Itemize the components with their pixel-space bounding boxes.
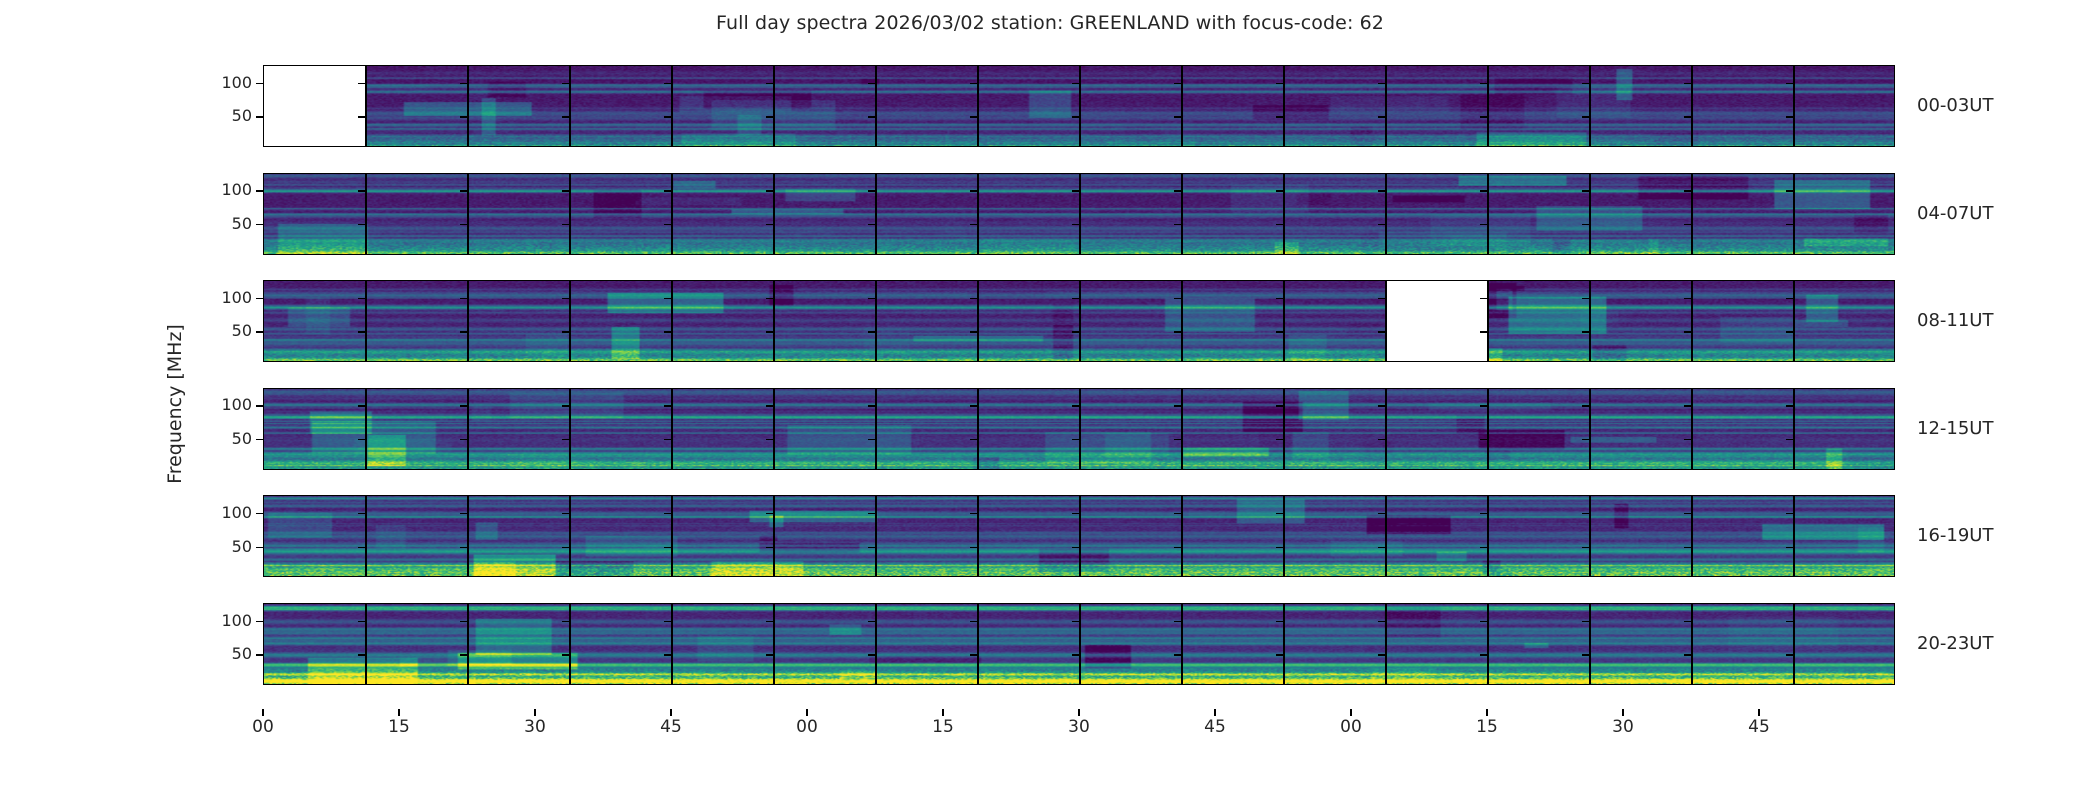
panel-separator <box>467 281 469 362</box>
y-tick-mark-inner <box>970 513 977 514</box>
y-tick-mark-inner <box>1174 83 1181 84</box>
y-tick-label: 100 <box>221 290 252 306</box>
panel-separator <box>1181 604 1183 685</box>
panel-separator <box>1589 389 1591 470</box>
y-tick-label: 100 <box>221 505 252 521</box>
x-tick-label: 30 <box>524 719 546 736</box>
row-label-12-15ut: 12-15UT <box>1917 420 1993 438</box>
panel-separator <box>1079 281 1081 362</box>
y-tick-mark-inner <box>1276 224 1283 225</box>
y-tick-mark-inner <box>1786 405 1793 406</box>
panel-separator <box>671 174 673 255</box>
y-tick-mark-inner <box>664 224 671 225</box>
panel-separator <box>1793 389 1795 470</box>
x-tick-mark <box>1350 709 1351 716</box>
panel-separator <box>569 174 571 255</box>
y-tick-mark-inner <box>1786 224 1793 225</box>
y-tick-mark-inner <box>970 621 977 622</box>
blank-data-panel <box>264 66 366 147</box>
panel-separator <box>1385 174 1387 255</box>
y-tick-mark-inner <box>1378 331 1385 332</box>
panel-separator <box>1487 604 1489 685</box>
y-tick-mark-inner <box>1582 116 1589 117</box>
panel-separator <box>1589 174 1591 255</box>
x-tick-label: 30 <box>1068 719 1090 736</box>
panel-separator <box>467 496 469 577</box>
y-tick-mark-inner <box>868 621 875 622</box>
y-tick-mark-inner <box>970 298 977 299</box>
y-tick-mark-inner <box>1582 190 1589 191</box>
x-tick-mark <box>1078 709 1079 716</box>
panel-separator <box>773 389 775 470</box>
y-tick-mark-inner <box>1174 513 1181 514</box>
panel-separator <box>875 604 877 685</box>
x-tick-label: 15 <box>932 719 954 736</box>
y-tick-mark-inner <box>1582 298 1589 299</box>
y-tick-mark-inner <box>1378 224 1385 225</box>
y-tick-mark-inner <box>1072 116 1079 117</box>
y-tick-mark-inner <box>1582 405 1589 406</box>
panel-separator <box>365 389 367 470</box>
y-tick-mark-inner <box>1786 621 1793 622</box>
y-tick-label: 50 <box>232 539 252 555</box>
panel-separator <box>773 496 775 577</box>
y-tick-mark-inner <box>970 405 977 406</box>
y-tick-mark-inner <box>868 298 875 299</box>
y-tick-mark-inner <box>1786 331 1793 332</box>
y-tick-mark-inner <box>1480 331 1487 332</box>
y-tick-mark-inner <box>1480 621 1487 622</box>
y-tick-mark-inner <box>766 298 773 299</box>
panel-separator <box>671 389 673 470</box>
panel-separator <box>875 496 877 577</box>
y-tick-mark-inner <box>766 405 773 406</box>
y-tick-mark-inner <box>868 190 875 191</box>
y-tick-mark-inner <box>562 298 569 299</box>
y-tick-mark-inner <box>1378 513 1385 514</box>
panel-separator <box>977 281 979 362</box>
y-tick-mark-inner <box>1174 190 1181 191</box>
y-tick-mark-inner <box>868 547 875 548</box>
y-tick-mark-inner <box>868 83 875 84</box>
y-tick-mark-inner <box>1786 298 1793 299</box>
y-tick-mark-inner <box>1174 621 1181 622</box>
y-tick-mark-inner <box>1582 224 1589 225</box>
y-tick-label: 100 <box>221 397 252 413</box>
y-tick-mark <box>256 621 263 622</box>
y-tick-label: 100 <box>221 75 252 91</box>
y-tick-mark-inner <box>664 116 671 117</box>
panel-separator <box>1487 496 1489 577</box>
y-tick-mark-inner <box>1582 331 1589 332</box>
y-tick-mark-inner <box>766 190 773 191</box>
y-tick-mark-inner <box>1786 83 1793 84</box>
panel-separator <box>1283 281 1285 362</box>
y-tick-mark-inner <box>766 224 773 225</box>
panel-separator <box>467 66 469 147</box>
y-tick-mark-inner <box>1684 439 1691 440</box>
y-tick-mark-inner <box>1174 116 1181 117</box>
y-tick-mark-inner <box>766 116 773 117</box>
panel-separator <box>1589 281 1591 362</box>
y-tick-mark-inner <box>1276 116 1283 117</box>
y-tick-mark-inner <box>868 116 875 117</box>
y-tick-mark-inner <box>1378 298 1385 299</box>
y-tick-mark-inner <box>664 547 671 548</box>
x-tick-mark <box>1214 709 1215 716</box>
y-tick-mark-inner <box>1072 513 1079 514</box>
panel-separator <box>1589 604 1591 685</box>
x-tick-label: 00 <box>1340 719 1362 736</box>
row-label-00-03ut: 00-03UT <box>1917 97 1993 115</box>
y-tick-mark-inner <box>868 513 875 514</box>
y-tick-mark-inner <box>1072 331 1079 332</box>
x-tick-label: 00 <box>252 719 274 736</box>
y-tick-mark-inner <box>1480 513 1487 514</box>
y-tick-mark-inner <box>1378 405 1385 406</box>
panel-separator <box>365 66 367 147</box>
y-tick-mark-inner <box>562 116 569 117</box>
y-tick-mark-inner <box>970 116 977 117</box>
panel-separator <box>671 281 673 362</box>
y-tick-mark-inner <box>868 405 875 406</box>
panel-separator <box>1283 496 1285 577</box>
y-tick-mark-inner <box>664 621 671 622</box>
y-tick-mark-inner <box>664 654 671 655</box>
y-tick-mark-inner <box>970 190 977 191</box>
y-tick-mark-inner <box>562 405 569 406</box>
panel-separator <box>977 389 979 470</box>
x-tick-label: 15 <box>388 719 410 736</box>
y-tick-mark <box>256 83 263 84</box>
y-tick-mark-inner <box>970 439 977 440</box>
y-tick-mark-inner <box>1276 547 1283 548</box>
row-label-16-19ut: 16-19UT <box>1917 527 1993 545</box>
y-tick-mark-inner <box>1276 331 1283 332</box>
panel-separator <box>1079 174 1081 255</box>
y-tick-mark-inner <box>766 547 773 548</box>
y-tick-mark-inner <box>358 405 365 406</box>
panel-separator <box>1691 66 1693 147</box>
y-tick-mark <box>256 190 263 191</box>
panel-separator <box>1181 281 1183 362</box>
panel-separator <box>671 604 673 685</box>
y-tick-mark-inner <box>358 331 365 332</box>
y-tick-mark-inner <box>1786 547 1793 548</box>
y-tick-label: 50 <box>232 323 252 339</box>
panel-separator <box>1691 496 1693 577</box>
y-tick-mark-inner <box>1174 298 1181 299</box>
y-tick-mark-inner <box>970 547 977 548</box>
y-tick-mark <box>256 116 263 117</box>
y-tick-mark-inner <box>1480 439 1487 440</box>
y-tick-mark-inner <box>1582 439 1589 440</box>
y-tick-mark-inner <box>562 621 569 622</box>
y-tick-mark-inner <box>1276 621 1283 622</box>
y-tick-mark-inner <box>1276 83 1283 84</box>
spectrogram-row <box>263 173 1895 255</box>
panel-separator <box>569 389 571 470</box>
y-tick-mark-inner <box>358 621 365 622</box>
y-tick-label: 50 <box>232 216 252 232</box>
y-tick-mark-inner <box>1276 190 1283 191</box>
x-tick-mark <box>1758 709 1759 716</box>
y-tick-mark-inner <box>460 547 467 548</box>
y-tick-mark-inner <box>1072 190 1079 191</box>
y-tick-mark-inner <box>970 83 977 84</box>
y-tick-mark-inner <box>1786 116 1793 117</box>
blank-data-panel <box>1386 281 1488 362</box>
y-tick-mark-inner <box>1480 547 1487 548</box>
y-tick-mark-inner <box>460 331 467 332</box>
panel-separator <box>1793 66 1795 147</box>
panel-separator <box>1079 604 1081 685</box>
panel-separator <box>977 604 979 685</box>
spectrogram-row <box>263 280 1895 362</box>
y-tick-mark-inner <box>358 439 365 440</box>
y-tick-mark-inner <box>358 547 365 548</box>
y-tick-mark-inner <box>1378 654 1385 655</box>
panel-separator <box>1691 281 1693 362</box>
y-tick-mark-inner <box>664 405 671 406</box>
y-tick-mark-inner <box>1684 116 1691 117</box>
y-tick-mark-inner <box>766 621 773 622</box>
panel-separator <box>569 496 571 577</box>
panel-separator <box>1793 174 1795 255</box>
panel-separator <box>1385 66 1387 147</box>
y-tick-mark-inner <box>1378 439 1385 440</box>
y-tick-mark <box>256 439 263 440</box>
y-tick-mark-inner <box>970 224 977 225</box>
y-tick-mark-inner <box>562 190 569 191</box>
panel-separator <box>1691 604 1693 685</box>
y-tick-mark-inner <box>664 298 671 299</box>
y-tick-mark-inner <box>1582 547 1589 548</box>
y-tick-mark-inner <box>562 83 569 84</box>
y-tick-mark-inner <box>358 116 365 117</box>
y-tick-mark-inner <box>766 439 773 440</box>
y-tick-mark-inner <box>460 513 467 514</box>
y-tick-mark-inner <box>766 331 773 332</box>
panel-separator <box>1181 66 1183 147</box>
y-tick-label: 50 <box>232 646 252 662</box>
x-tick-mark <box>1486 709 1487 716</box>
panel-separator <box>365 604 367 685</box>
panel-separator <box>1385 281 1387 362</box>
panel-separator <box>1181 496 1183 577</box>
panel-separator <box>569 66 571 147</box>
y-tick-mark-inner <box>1378 116 1385 117</box>
panel-separator <box>1589 66 1591 147</box>
panel-separator <box>671 66 673 147</box>
x-tick-label: 45 <box>1748 719 1770 736</box>
panel-separator <box>1793 281 1795 362</box>
panel-separator <box>1385 389 1387 470</box>
panel-separator <box>1589 496 1591 577</box>
y-tick-mark-inner <box>1786 513 1793 514</box>
y-tick-mark-inner <box>1072 654 1079 655</box>
row-label-20-23ut: 20-23UT <box>1917 635 1993 653</box>
y-tick-mark <box>256 513 263 514</box>
panel-separator <box>1487 66 1489 147</box>
y-tick-mark <box>256 224 263 225</box>
panel-separator <box>977 66 979 147</box>
y-tick-mark-inner <box>1276 513 1283 514</box>
y-tick-mark-inner <box>1480 83 1487 84</box>
y-tick-mark-inner <box>460 83 467 84</box>
y-tick-mark-inner <box>1786 190 1793 191</box>
y-tick-mark-inner <box>358 513 365 514</box>
y-tick-mark-inner <box>460 621 467 622</box>
panel-separator <box>365 281 367 362</box>
y-tick-mark-inner <box>562 513 569 514</box>
y-tick-mark-inner <box>1480 224 1487 225</box>
y-tick-mark-inner <box>562 439 569 440</box>
panel-separator <box>875 66 877 147</box>
y-tick-label: 50 <box>232 108 252 124</box>
y-tick-mark-inner <box>1582 83 1589 84</box>
x-tick-label: 30 <box>1612 719 1634 736</box>
y-tick-mark-inner <box>1072 83 1079 84</box>
y-tick-mark-inner <box>1072 547 1079 548</box>
row-label-08-11ut: 08-11UT <box>1917 312 1993 330</box>
panel-separator <box>1487 389 1489 470</box>
y-tick-mark-inner <box>1174 547 1181 548</box>
panel-separator <box>569 281 571 362</box>
y-tick-mark-inner <box>664 331 671 332</box>
y-tick-mark-inner <box>1072 224 1079 225</box>
y-tick-mark-inner <box>358 298 365 299</box>
y-tick-mark-inner <box>1582 654 1589 655</box>
y-tick-mark-inner <box>1786 654 1793 655</box>
y-tick-mark-inner <box>1378 190 1385 191</box>
y-tick-label: 100 <box>221 613 252 629</box>
y-tick-mark-inner <box>562 547 569 548</box>
panel-separator <box>1283 66 1285 147</box>
panel-separator <box>875 174 877 255</box>
y-tick-mark-inner <box>664 513 671 514</box>
panel-separator <box>773 66 775 147</box>
y-tick-mark-inner <box>358 83 365 84</box>
y-tick-mark-inner <box>1072 405 1079 406</box>
x-tick-mark <box>670 709 671 716</box>
panel-separator <box>875 281 877 362</box>
panel-separator <box>875 389 877 470</box>
panel-separator <box>671 496 673 577</box>
y-tick-mark-inner <box>562 331 569 332</box>
y-tick-mark-inner <box>1378 547 1385 548</box>
panel-separator <box>1487 174 1489 255</box>
spectrogram-row <box>263 495 1895 577</box>
y-tick-mark-inner <box>1684 621 1691 622</box>
panel-separator <box>1181 389 1183 470</box>
y-tick-mark-inner <box>1684 547 1691 548</box>
y-tick-mark-inner <box>1174 439 1181 440</box>
x-tick-mark <box>534 709 535 716</box>
y-tick-mark-inner <box>1276 439 1283 440</box>
y-tick-mark-inner <box>1582 621 1589 622</box>
y-tick-mark-inner <box>562 654 569 655</box>
y-tick-mark <box>256 405 263 406</box>
y-tick-mark-inner <box>664 83 671 84</box>
panel-separator <box>1283 174 1285 255</box>
y-tick-mark-inner <box>562 224 569 225</box>
y-tick-mark <box>256 331 263 332</box>
panel-separator <box>1691 174 1693 255</box>
y-tick-mark-inner <box>664 190 671 191</box>
y-tick-mark-inner <box>1276 298 1283 299</box>
y-tick-mark-inner <box>1276 654 1283 655</box>
y-tick-mark-inner <box>460 298 467 299</box>
y-tick-mark-inner <box>766 513 773 514</box>
y-tick-mark-inner <box>1072 439 1079 440</box>
y-tick-mark-inner <box>1072 621 1079 622</box>
y-tick-mark-inner <box>358 654 365 655</box>
y-tick-mark-inner <box>460 654 467 655</box>
x-tick-mark <box>398 709 399 716</box>
panel-separator <box>1079 389 1081 470</box>
panel-separator <box>365 496 367 577</box>
y-tick-label: 50 <box>232 431 252 447</box>
panel-separator <box>1079 66 1081 147</box>
y-tick-mark-inner <box>460 405 467 406</box>
y-tick-mark-inner <box>1684 331 1691 332</box>
y-tick-mark-inner <box>868 439 875 440</box>
panel-separator <box>467 389 469 470</box>
y-tick-mark-inner <box>1684 513 1691 514</box>
panel-separator <box>1793 496 1795 577</box>
y-tick-mark-inner <box>358 190 365 191</box>
x-tick-label: 45 <box>660 719 682 736</box>
x-tick-label: 45 <box>1204 719 1226 736</box>
y-tick-mark-inner <box>766 83 773 84</box>
y-tick-mark-inner <box>1174 331 1181 332</box>
spectrogram-row <box>263 603 1895 685</box>
y-tick-mark-inner <box>1276 405 1283 406</box>
y-tick-mark-inner <box>1480 405 1487 406</box>
y-axis-label: Frequency [MHz] <box>164 324 186 484</box>
page-title: Full day spectra 2026/03/02 station: GRE… <box>0 12 2100 34</box>
panel-separator <box>977 496 979 577</box>
y-tick-mark-inner <box>1684 654 1691 655</box>
panel-separator <box>773 604 775 685</box>
spectrogram-figure: Full day spectra 2026/03/02 station: GRE… <box>0 0 2100 800</box>
y-tick-mark-inner <box>766 654 773 655</box>
y-tick-mark-inner <box>1378 83 1385 84</box>
y-tick-mark-inner <box>460 224 467 225</box>
spectrogram-row <box>263 65 1895 147</box>
y-tick-mark-inner <box>358 224 365 225</box>
x-tick-mark <box>1622 709 1623 716</box>
y-tick-mark-inner <box>1072 298 1079 299</box>
x-tick-mark <box>806 709 807 716</box>
y-tick-mark-inner <box>970 654 977 655</box>
panel-separator <box>467 174 469 255</box>
y-tick-mark-inner <box>460 190 467 191</box>
panel-separator <box>1691 389 1693 470</box>
y-tick-mark-inner <box>460 116 467 117</box>
y-tick-mark-inner <box>868 654 875 655</box>
y-tick-mark-inner <box>1684 190 1691 191</box>
y-tick-mark-inner <box>460 439 467 440</box>
row-label-04-07ut: 04-07UT <box>1917 205 1993 223</box>
y-tick-mark-inner <box>1480 298 1487 299</box>
y-tick-mark <box>256 298 263 299</box>
panel-separator <box>977 174 979 255</box>
y-tick-mark <box>256 547 263 548</box>
y-tick-mark-inner <box>1582 513 1589 514</box>
panel-separator <box>1283 604 1285 685</box>
